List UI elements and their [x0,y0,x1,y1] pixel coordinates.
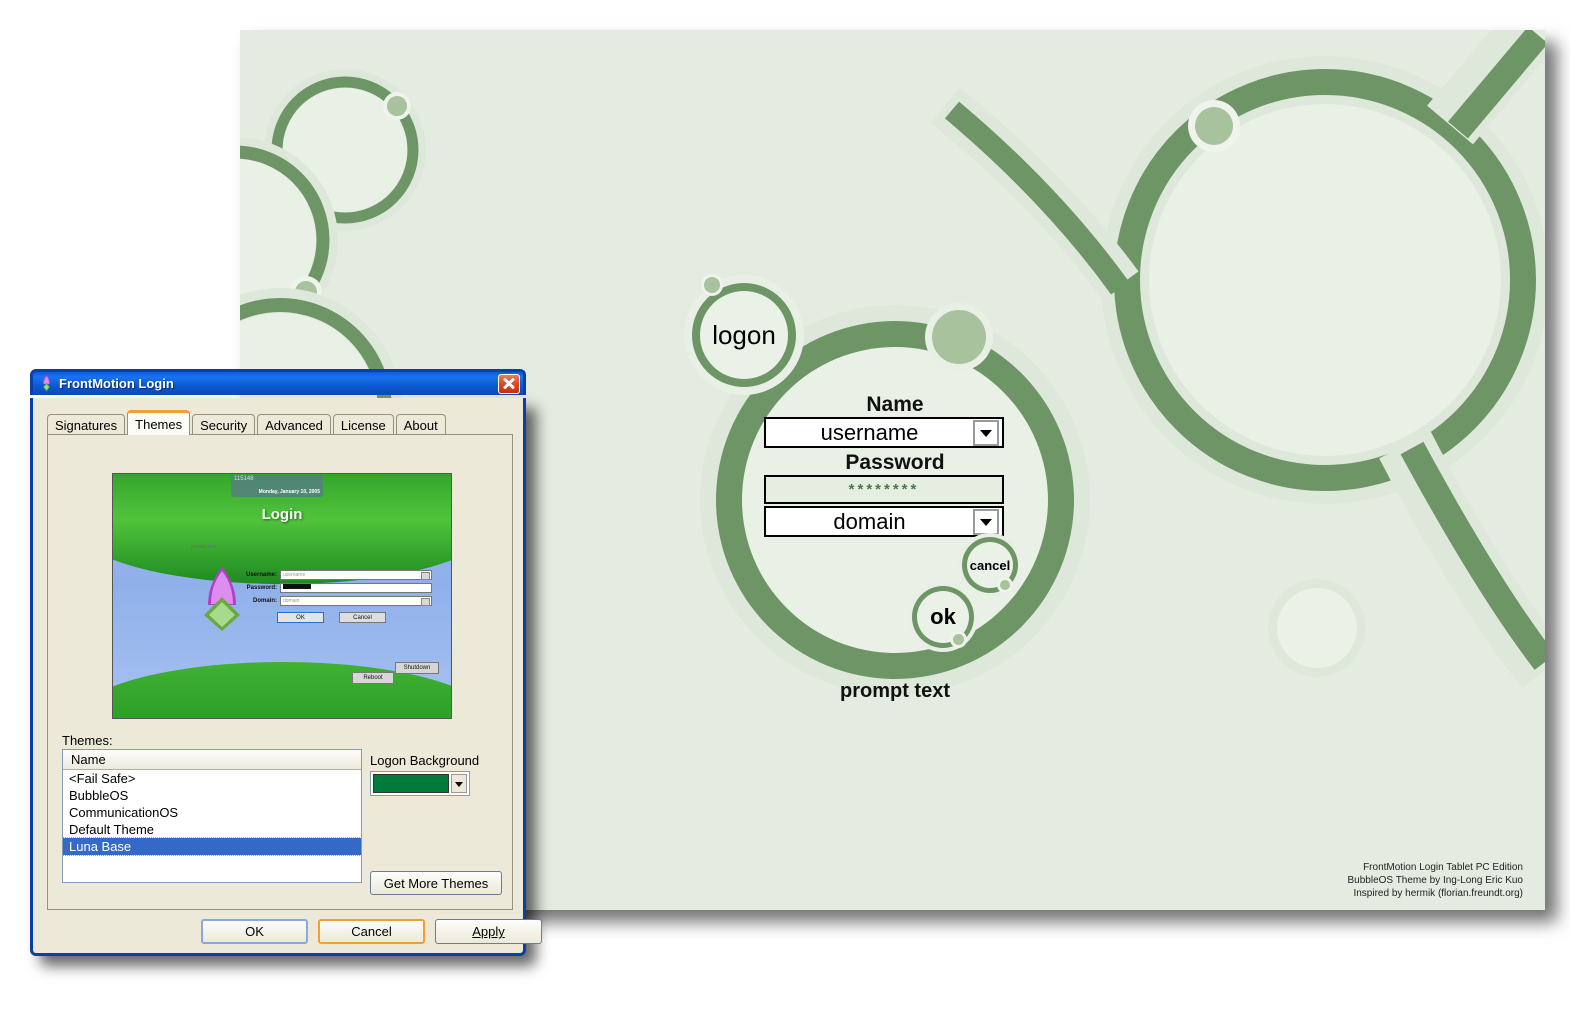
logon-bubble-label: logon [712,320,776,351]
rocket-icon [39,375,54,392]
tab-themes[interactable]: Themes [127,410,190,435]
preview-domain-label: Domain: [231,598,277,604]
preview-clock-date: Monday, January 10, 2005 [259,489,320,495]
tab-signatures[interactable]: Signatures [47,414,125,435]
list-item[interactable]: BubbleOS [63,787,361,804]
cancel-bubble[interactable]: cancel [958,533,1022,597]
chevron-down-icon[interactable] [451,774,467,793]
preview-clock: 115148 Monday, January 10, 2005 [231,475,323,497]
list-item-selected[interactable]: Luna Base [63,838,361,855]
username-field[interactable]: username [764,417,1004,448]
title-bar[interactable]: FrontMotion Login [30,369,526,395]
preview-login-word: Login [113,506,451,523]
accent-bubble-core [932,310,986,364]
prompt-text: prompt text [700,680,1090,703]
apply-button[interactable]: Apply [435,919,542,944]
password-value: ******** [766,481,1002,498]
list-item[interactable]: Default Theme [63,821,361,838]
theme-preview-thumbnail[interactable]: 115148 Monday, January 10, 2005 Login pr… [112,473,452,719]
tab-advanced[interactable]: Advanced [257,414,331,435]
domain-chevron-down-icon[interactable] [973,509,999,535]
listbox-column-header-name[interactable]: Name [63,750,361,770]
preview-username-row: Username: username [231,569,432,580]
preview-cancel-button[interactable]: Cancel [339,612,386,623]
tab-about[interactable]: About [396,414,446,435]
password-label: Password [700,451,1090,475]
credits-block: FrontMotion Login Tablet PC Edition Bubb… [1348,861,1523,900]
frontmotion-login-dialog: FrontMotion Login Signatures Themes Secu… [30,398,526,956]
ok-bubble-label: ok [930,604,956,630]
preview-clock-number: 115148 [234,476,254,482]
themes-label: Themes: [62,733,113,748]
preview-password-input[interactable] [280,583,432,593]
logon-bubble-core: logon [700,291,788,379]
preview-shutdown-button[interactable]: Shutdown [395,662,439,674]
themes-tab-panel: 115148 Monday, January 10, 2005 Login pr… [47,434,513,910]
name-label: Name [700,393,1090,417]
preview-ok-button[interactable]: OK [277,612,324,623]
username-chevron-down-icon[interactable] [973,420,999,446]
themes-listbox[interactable]: Name <Fail Safe> BubbleOS CommunicationO… [62,749,362,883]
cancel-button[interactable]: Cancel [318,919,425,944]
apply-button-label: Apply [472,924,505,939]
preview-password-row: Password: [231,582,432,593]
preview-password-label: Password: [231,585,277,591]
preview-domain-input[interactable]: domain [280,596,432,606]
ok-bubble[interactable]: ok [908,582,978,652]
cancel-bubble-dot [1000,580,1010,590]
preview-domain-row: Domain: domain [231,595,432,606]
dialog-title: FrontMotion Login [59,376,498,391]
color-swatch [373,774,449,793]
accent-bubble [925,303,993,371]
tab-security[interactable]: Security [192,414,255,435]
password-field[interactable]: ******** [764,475,1004,504]
credits-line-2: BubbleOS Theme by Ing-Long Eric Kuo [1348,874,1523,887]
username-value: username [766,420,973,446]
domain-field[interactable]: domain [764,506,1004,537]
preview-reboot-button[interactable]: Reboot [352,672,394,684]
close-icon[interactable] [498,374,520,394]
credits-line-3: Inspired by hermik (florian.freundt.org) [1348,887,1523,900]
get-more-themes-button[interactable]: Get More Themes [370,871,502,895]
preview-username-label: Username: [231,572,277,578]
list-item[interactable]: <Fail Safe> [63,770,361,787]
tab-license[interactable]: License [333,414,394,435]
logon-bubble-dot [704,277,720,293]
preview-username-input[interactable]: username [280,570,432,580]
ok-bubble-dot [953,634,964,645]
cancel-bubble-label: cancel [970,558,1010,573]
credits-line-1: FrontMotion Login Tablet PC Edition [1348,861,1523,874]
logon-background-color-picker[interactable] [370,771,470,796]
logon-bubble-cluster: logon Name username Password ******** do… [700,285,1090,705]
logon-background-label: Logon Background [370,753,479,768]
domain-value: domain [766,509,973,535]
list-item[interactable]: CommunicationOS [63,804,361,821]
preview-prompt-text: prompt text [191,544,216,550]
tab-strip: Signatures Themes Security Advanced Lice… [47,410,448,435]
logon-bubble[interactable]: logon [684,275,804,395]
ok-button[interactable]: OK [201,919,308,944]
